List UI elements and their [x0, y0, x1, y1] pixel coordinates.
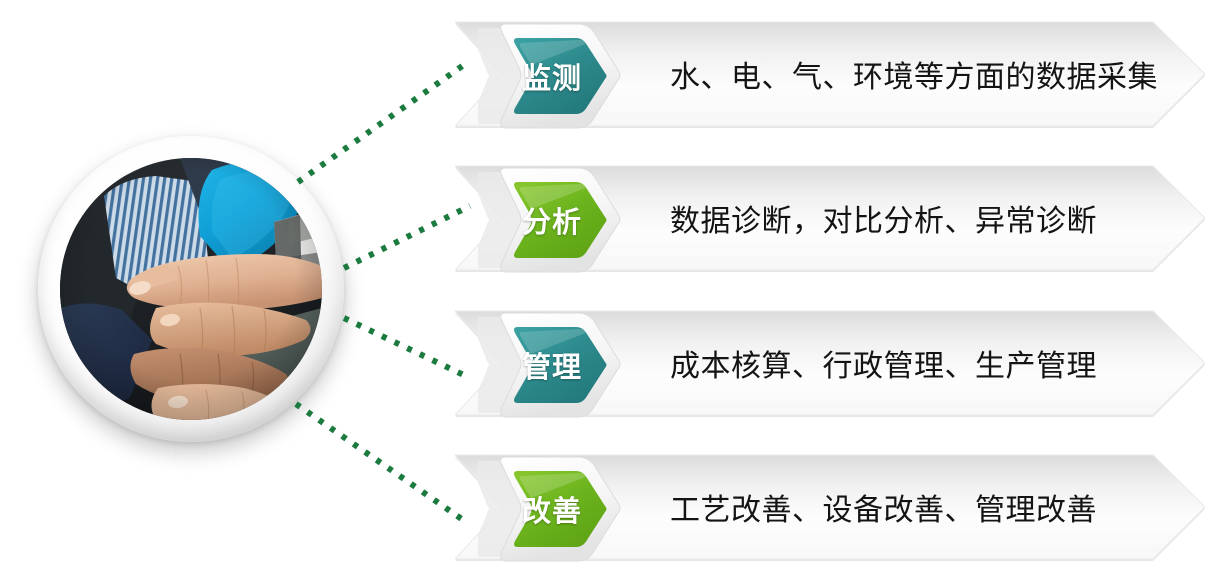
connector-line-3 [344, 318, 470, 378]
badge-hexagon[interactable]: 改善 [478, 451, 626, 567]
row-monitoring[interactable]: 监测 水、电、气、环境等方面的数据采集 [455, 20, 1205, 128]
badge-label: 监测 [478, 18, 626, 134]
row-label: 成本核算、行政管理、生产管理 [670, 309, 1097, 417]
badge-hexagon[interactable]: 监测 [478, 18, 626, 134]
badge-label: 分析 [478, 162, 626, 278]
teamwork-photo-circle [30, 126, 352, 448]
photo-ring-highlight [38, 136, 344, 442]
connector-line-2 [344, 206, 470, 268]
badge-hexagon[interactable]: 管理 [478, 307, 626, 423]
row-label: 工艺改善、设备改善、管理改善 [670, 453, 1097, 561]
row-label: 水、电、气、环境等方面的数据采集 [670, 20, 1158, 128]
row-management[interactable]: 管理 成本核算、行政管理、生产管理 [455, 309, 1205, 417]
row-improvement[interactable]: 改善 工艺改善、设备改善、管理改善 [455, 453, 1205, 561]
row-analysis[interactable]: 分析 数据诊断，对比分析、异常诊断 [455, 164, 1205, 272]
badge-hexagon[interactable]: 分析 [478, 162, 626, 278]
badge-label: 管理 [478, 307, 626, 423]
badge-label: 改善 [478, 451, 626, 567]
row-label: 数据诊断，对比分析、异常诊断 [670, 164, 1097, 272]
